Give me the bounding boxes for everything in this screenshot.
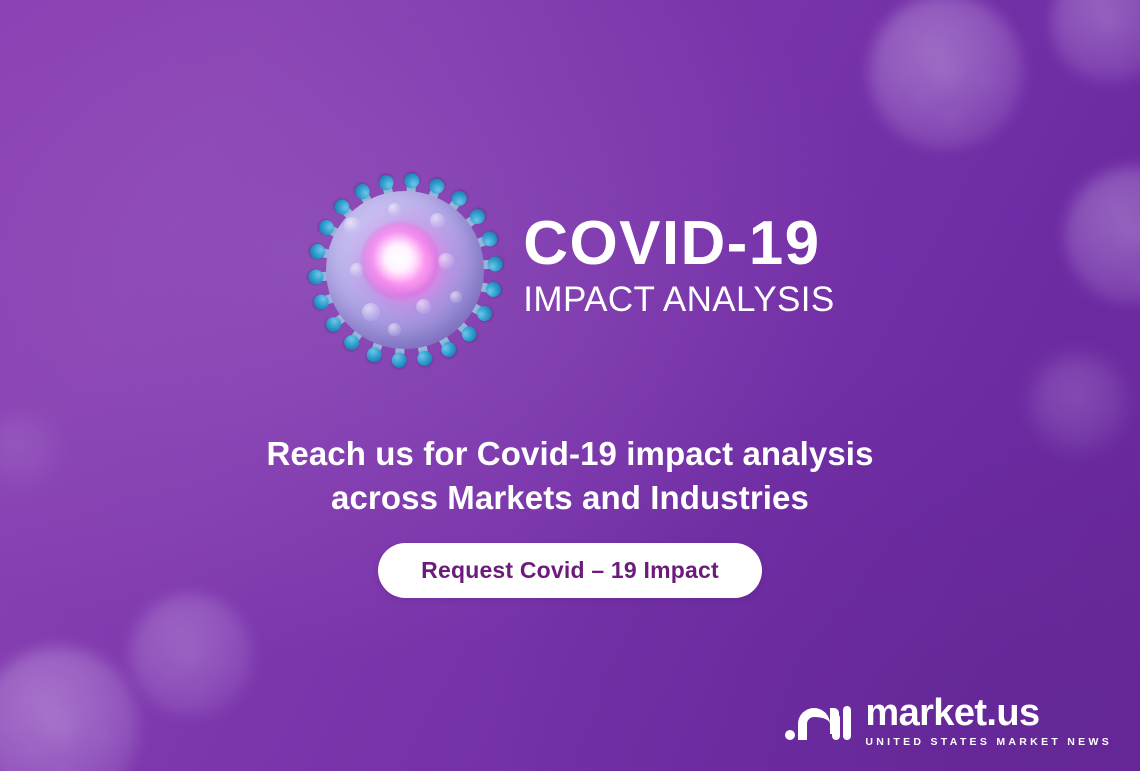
virus-surface-bump — [344, 217, 361, 234]
covid-logo-lockup: COVID-19 IMPACT ANALYSIS — [0, 170, 1140, 370]
covid-subtitle: IMPACT ANALYSIS — [523, 281, 834, 320]
headline: Reach us for Covid-19 impact analysis ac… — [0, 432, 1140, 520]
logo-dot-shape — [785, 730, 795, 740]
logo-bar-tall-shape — [843, 706, 851, 740]
request-covid-impact-button[interactable]: Request Covid – 19 Impact — [378, 543, 762, 598]
banner-content: COVID-19 IMPACT ANALYSIS Reach us for Co… — [0, 0, 1140, 771]
virus-core-glow — [361, 222, 439, 300]
virus-surface-bump — [438, 253, 454, 269]
covid-wordmark: COVID-19 IMPACT ANALYSIS — [523, 214, 834, 325]
headline-line-1: Reach us for Covid-19 impact analysis — [120, 432, 1020, 476]
brand-tagline: UNITED STATES MARKET NEWS — [865, 737, 1112, 748]
virus-spike-knob — [484, 280, 502, 298]
logo-bar-short-shape — [832, 714, 840, 740]
virus-surface-bump — [450, 291, 462, 303]
covid-title: COVID-19 — [523, 214, 820, 274]
virus-spike-knob — [404, 172, 420, 188]
virus-spike-knob — [308, 269, 324, 285]
cta-container: Request Covid – 19 Impact — [0, 543, 1140, 598]
market-us-wordmark: market.us UNITED STATES MARKET NEWS — [865, 694, 1112, 748]
virus-spike-knob — [308, 242, 326, 260]
virus-surface-bump — [430, 213, 445, 228]
market-us-mark-icon — [785, 696, 851, 742]
virus-spike-knob — [391, 352, 407, 368]
market-us-logo[interactable]: market.us UNITED STATES MARKET NEWS — [785, 694, 1112, 748]
logo-arch-shape — [798, 708, 830, 740]
virus-spike-knob — [487, 255, 503, 271]
brand-name: market.us — [865, 694, 1112, 732]
covid-impact-banner: COVID-19 IMPACT ANALYSIS Reach us for Co… — [0, 0, 1140, 771]
coronavirus-icon — [305, 170, 505, 370]
virus-surface-bump — [388, 323, 401, 336]
virus-surface-bump — [362, 303, 380, 321]
headline-line-2: across Markets and Industries — [120, 476, 1020, 520]
virus-surface-bump — [388, 203, 401, 216]
virus-spike-knob — [377, 173, 395, 191]
virus-surface-bump — [416, 299, 431, 314]
